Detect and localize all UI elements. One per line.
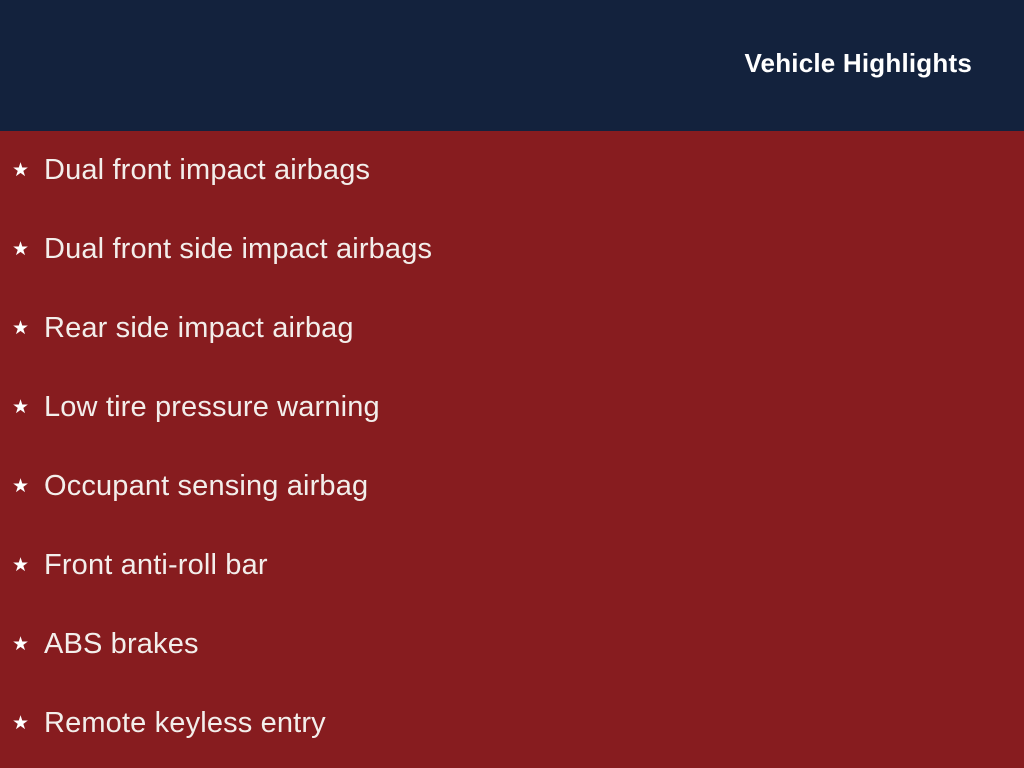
page-title: Vehicle Highlights: [744, 47, 972, 79]
star-icon: ★: [12, 526, 32, 605]
list-item: ★Low tire pressure warning: [0, 368, 1024, 447]
feature-label: ABS brakes: [44, 605, 199, 684]
star-icon: ★: [12, 131, 32, 210]
star-icon: ★: [12, 447, 32, 526]
feature-label: Remote keyless entry: [44, 684, 326, 763]
star-icon: ★: [12, 684, 32, 763]
vehicle-feature-list: ★Dual front impact airbags ★Dual front s…: [0, 131, 1024, 763]
feature-label: Front anti‑roll bar: [44, 526, 268, 605]
star-icon: ★: [12, 605, 32, 684]
feature-label: Rear side impact airbag: [44, 289, 354, 368]
vehicle-highlights-slide: Vehicle Highlights ★Dual front impact ai…: [0, 0, 1024, 768]
list-item: ★Occupant sensing airbag: [0, 447, 1024, 526]
star-icon: ★: [12, 368, 32, 447]
slide-header: Vehicle Highlights: [0, 0, 1024, 131]
star-icon: ★: [12, 210, 32, 289]
feature-label: Low tire pressure warning: [44, 368, 380, 447]
feature-label: Occupant sensing airbag: [44, 447, 368, 526]
list-item: ★Dual front side impact airbags: [0, 210, 1024, 289]
feature-label: Dual front impact airbags: [44, 131, 370, 210]
star-icon: ★: [12, 289, 32, 368]
feature-label: Dual front side impact airbags: [44, 210, 432, 289]
list-item: ★Dual front impact airbags: [0, 131, 1024, 210]
list-item: ★ABS brakes: [0, 605, 1024, 684]
slide-body: ★Dual front impact airbags ★Dual front s…: [0, 131, 1024, 768]
list-item: ★Rear side impact airbag: [0, 289, 1024, 368]
list-item: ★Remote keyless entry: [0, 684, 1024, 763]
list-item: ★Front anti‑roll bar: [0, 526, 1024, 605]
